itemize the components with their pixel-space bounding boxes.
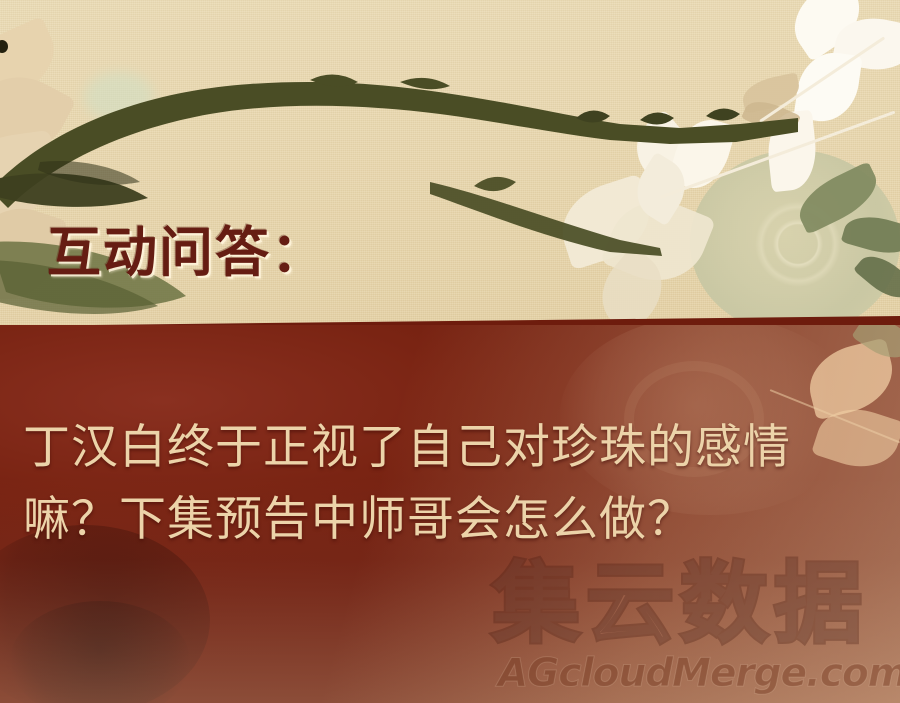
subtitle-card: 互动问答： 丁汉白终于正视了自己对珍珠的感情 嘛？下集预告中师哥会怎么做？ 集云… (0, 0, 900, 703)
question-line-2: 嘛？下集预告中师哥会怎么做？ (23, 484, 889, 556)
question-text: 丁汉白终于正视了自己对珍珠的感情 嘛？下集预告中师哥会怎么做？ (23, 412, 889, 556)
question-line-1: 丁汉白终于正视了自己对珍珠的感情 (23, 412, 889, 484)
page-title: 互动问答： (47, 221, 327, 283)
olive-branch-lower (430, 176, 760, 256)
olive-branch-lower-svg (430, 176, 760, 256)
